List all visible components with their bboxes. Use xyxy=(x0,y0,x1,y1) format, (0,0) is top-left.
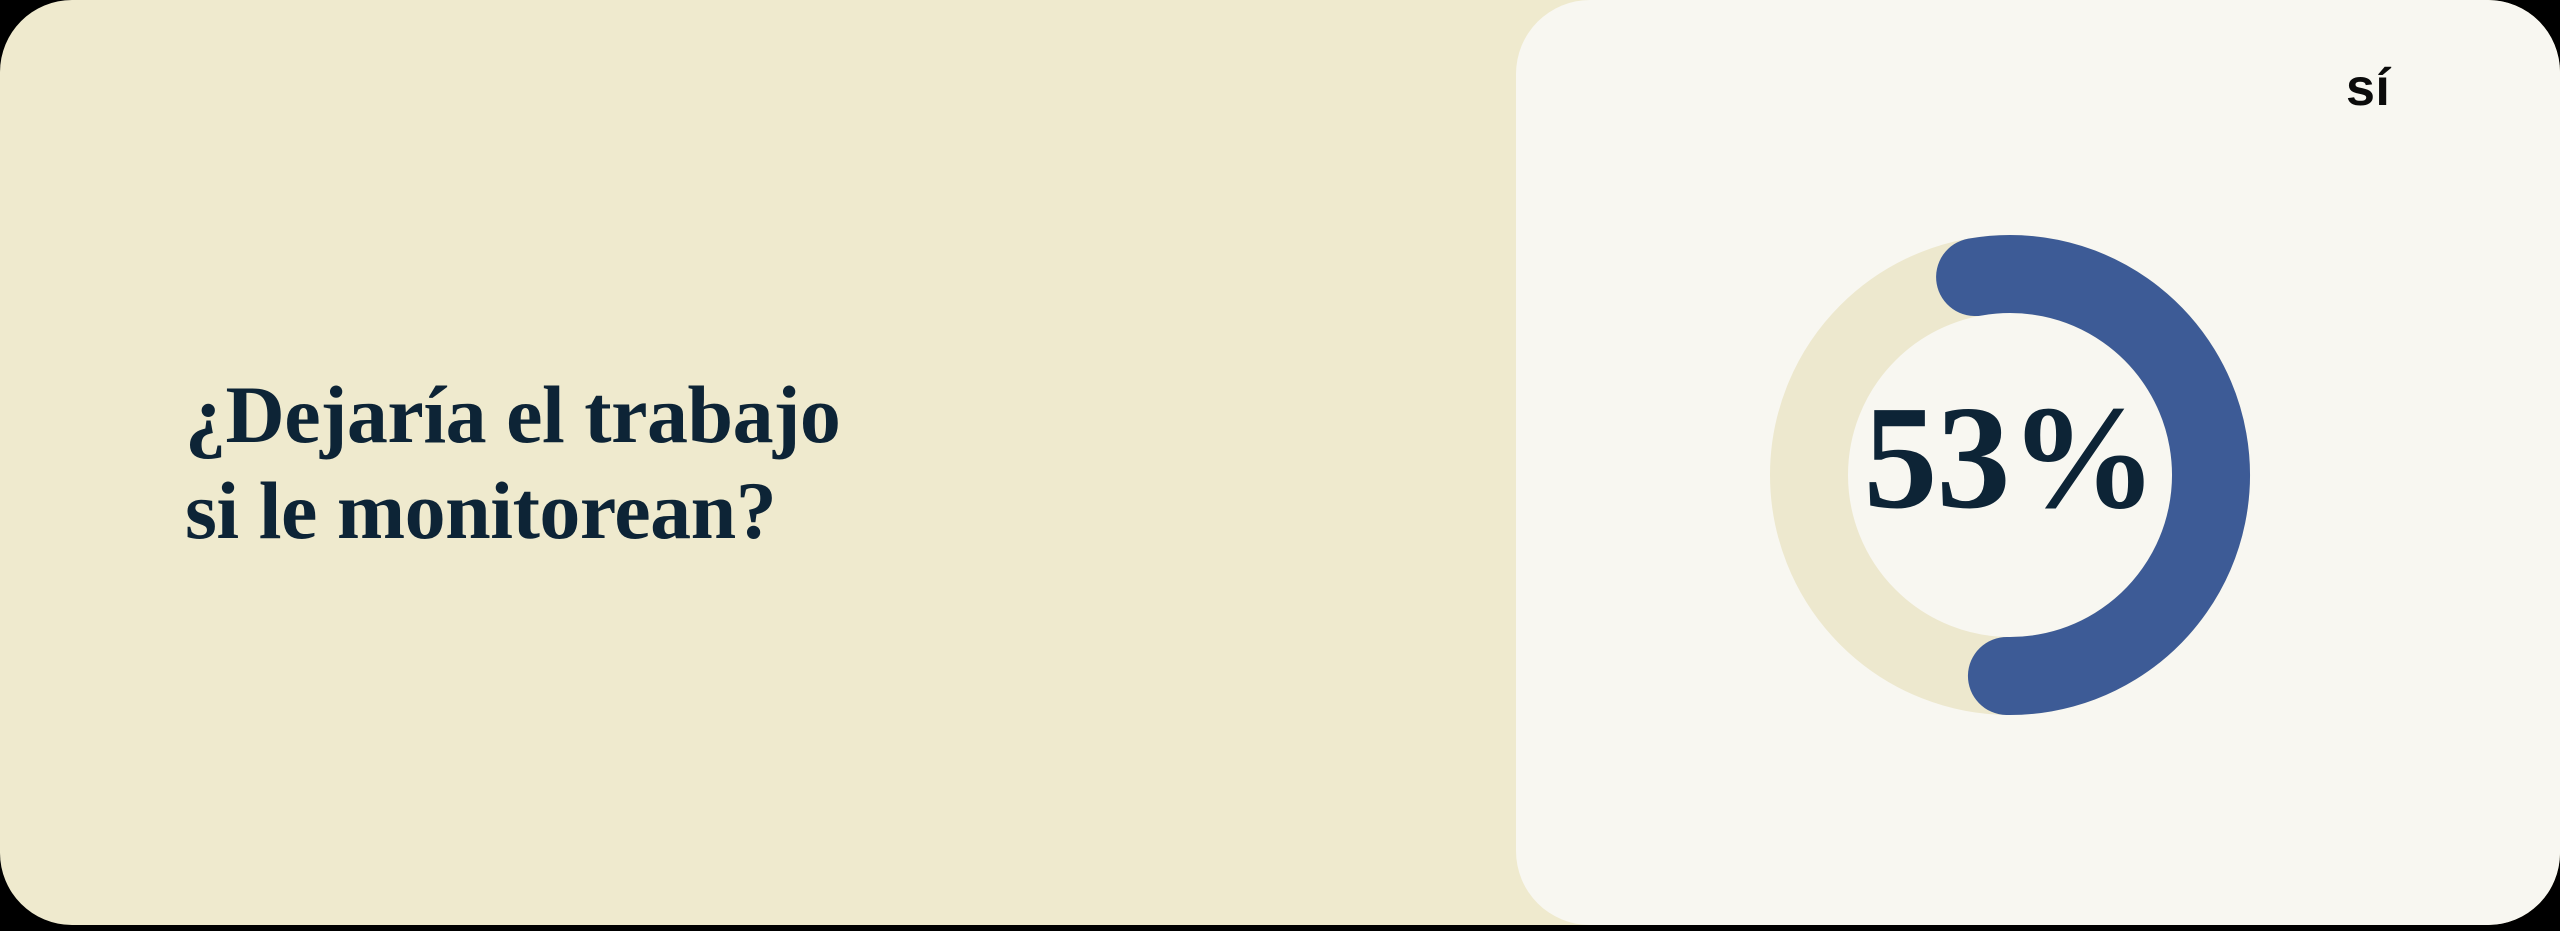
donut-chart: 53% sí xyxy=(1516,0,2560,925)
stat-card: ¿Dejaría el trabajo si le monitorean? 53… xyxy=(0,0,2560,925)
question-title: ¿Dejaría el trabajo si le monitorean? xyxy=(0,367,840,557)
donut-center-value: 53% xyxy=(1770,384,2250,532)
infographic-stage: ¿Dejaría el trabajo si le monitorean? 53… xyxy=(0,0,2560,931)
donut-legend-label: sí xyxy=(2346,62,2390,114)
chart-panel: 53% sí xyxy=(1516,0,2560,925)
question-panel: ¿Dejaría el trabajo si le monitorean? xyxy=(0,0,1520,925)
